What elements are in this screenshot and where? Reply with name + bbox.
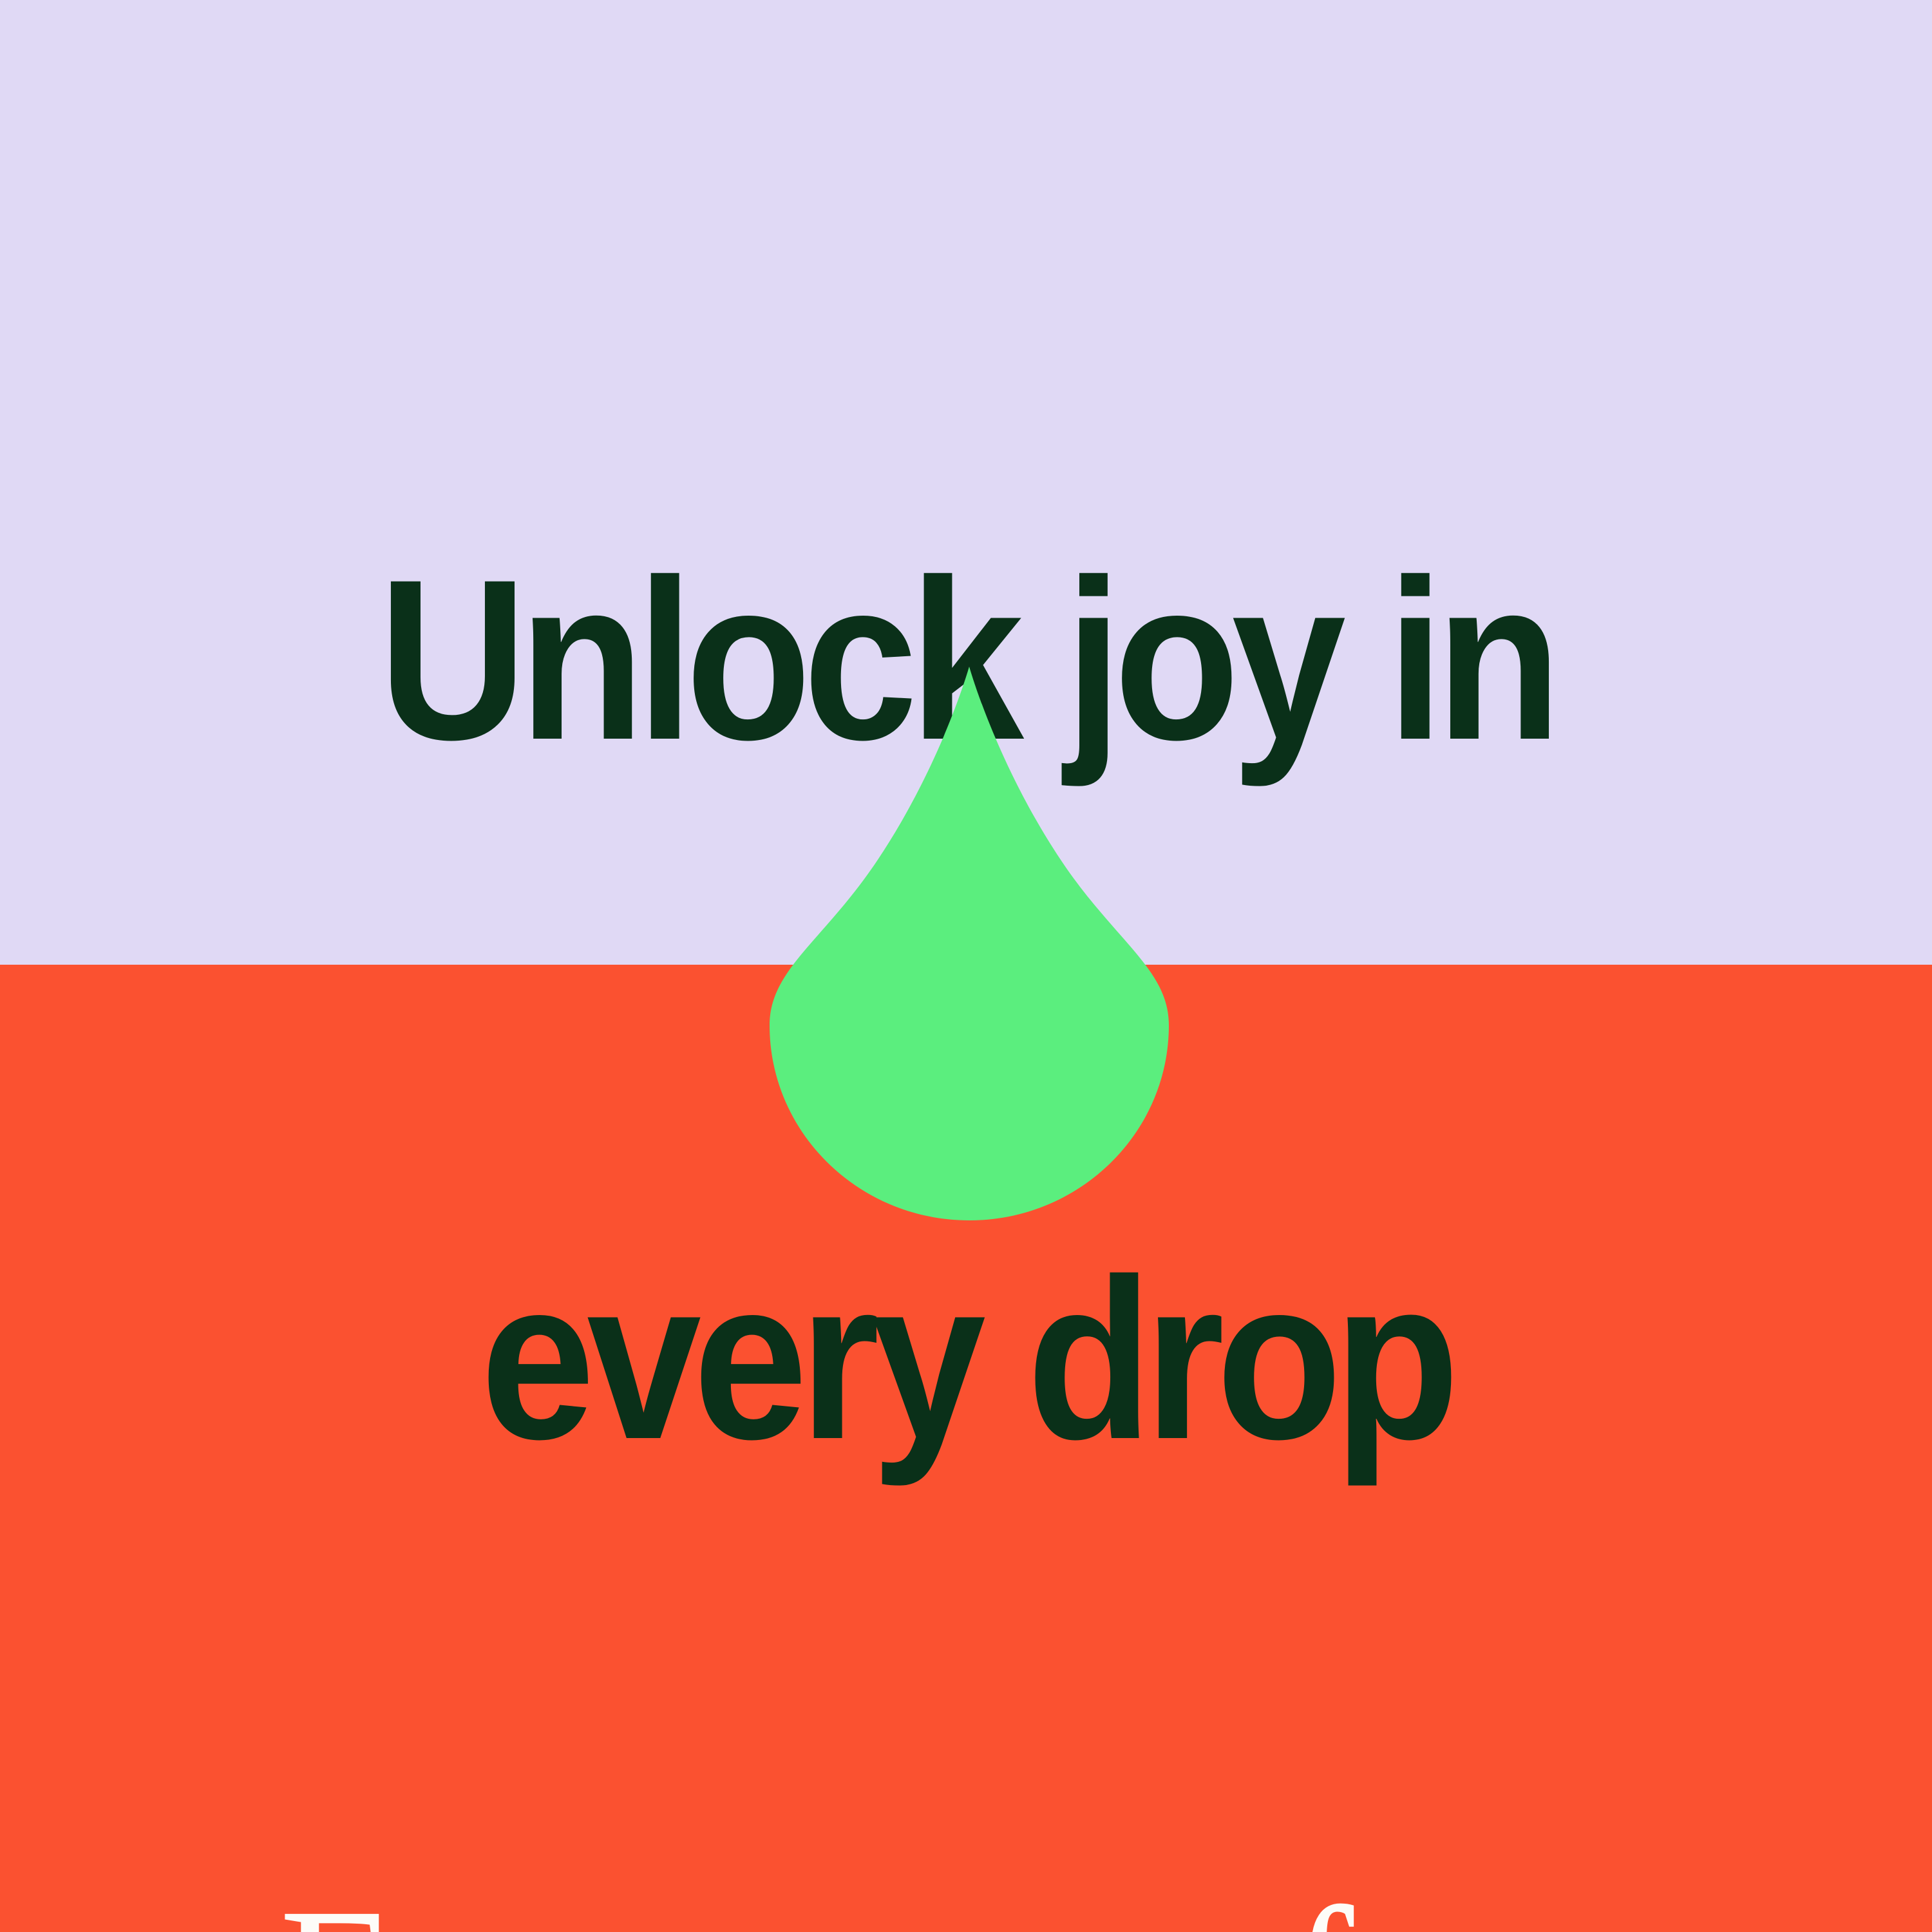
promotional-poster: Unlock joy in every drop Extract more fr… <box>0 0 1932 1932</box>
subcopy: Extract more from life’s little moments <box>97 1291 1835 1932</box>
subcopy-line-1: Extract more from <box>97 1844 1835 1932</box>
water-droplet-icon <box>770 667 1169 1220</box>
droplet-graphic <box>770 667 1169 1220</box>
